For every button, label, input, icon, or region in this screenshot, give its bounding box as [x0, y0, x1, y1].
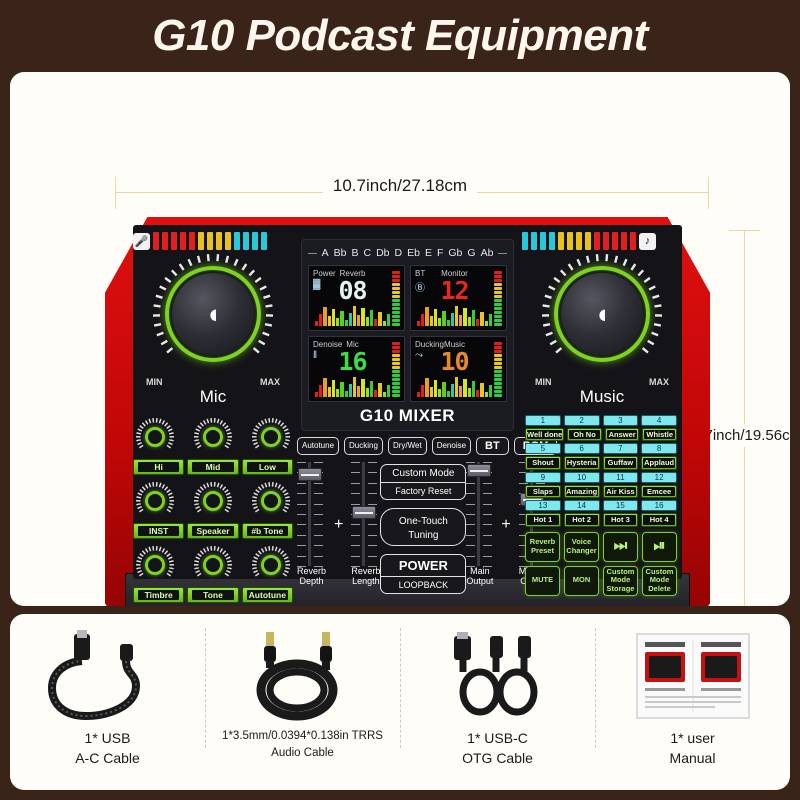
knob-mid[interactable] — [193, 417, 233, 457]
accessory-item: 1* userManual — [595, 614, 790, 790]
note-label: Ab — [481, 247, 494, 259]
power-loopback-button[interactable]: POWERLOOPBACK — [380, 554, 466, 594]
eq-bar — [349, 313, 352, 326]
knob-timbre[interactable] — [135, 545, 175, 585]
vu-segment — [392, 378, 400, 381]
eq-bar — [463, 308, 466, 326]
vu-segment — [494, 382, 502, 385]
pad-number: 2 — [564, 415, 600, 426]
usb-a-to-c-cable-icon — [48, 628, 168, 724]
vu-segment — [392, 303, 400, 306]
led-segment — [594, 232, 600, 250]
fader-notch — [314, 535, 323, 536]
fader-notch — [314, 514, 323, 515]
vu-segment — [392, 374, 400, 377]
led-segment — [558, 232, 564, 250]
fader-notch — [351, 504, 360, 505]
eq-bar — [323, 378, 326, 397]
mic-led-meter: 🎤 — [133, 225, 293, 247]
vu-segment — [392, 390, 400, 393]
lcd-equalizer — [315, 304, 390, 326]
accessory-caption: 1* userManual — [670, 728, 716, 769]
brand-logo-icon: ◖ — [205, 301, 221, 328]
eq-bar — [332, 309, 335, 326]
knob-tone[interactable] — [193, 545, 233, 585]
knob-speaker[interactable] — [193, 481, 233, 521]
led-segment — [585, 232, 591, 250]
note-rule-left — [308, 253, 317, 254]
eq-bar — [455, 377, 458, 397]
fader-notch — [351, 566, 360, 567]
right-control-column: ♪ ◖ MIN MAX Music 1234Well doneOh NoAnsw… — [522, 225, 682, 579]
fader-label: MainOutput — [466, 566, 493, 587]
note-rule-right — [498, 253, 507, 254]
lcd-vu-meter — [494, 269, 502, 327]
lcd-equalizer — [315, 375, 390, 397]
eq-bar — [378, 383, 381, 397]
eq-bar — [417, 392, 420, 397]
led-segment — [162, 232, 168, 250]
knob--b-tone[interactable] — [251, 481, 291, 521]
pad-shout[interactable]: Shout — [525, 456, 561, 469]
pad-whistle[interactable]: Whistle — [642, 428, 677, 441]
eq-bar — [332, 380, 335, 397]
pad-slaps[interactable]: Slaps — [525, 485, 561, 498]
pad-label-text: Hysteria — [566, 458, 598, 467]
mic-icon: 🎤 — [133, 233, 150, 250]
led-segment — [531, 232, 537, 250]
center-control-section: AutotuneDuckingDry/WetDenoiseBTBGMReverb… — [297, 437, 518, 577]
fader-notch — [351, 535, 360, 536]
led-segment — [603, 232, 609, 250]
eq-bar — [421, 385, 424, 397]
eq-bar — [459, 386, 462, 397]
product-panel: 10.7inch/27.18cm 7.7inch/19.56cm 🎤 ◖ — [10, 72, 790, 606]
lcd-value: 16 — [338, 349, 366, 374]
led-segment — [261, 232, 267, 250]
accessory-caption: 1* USBA-C Cable — [75, 728, 140, 769]
mini-knob-ring — [203, 491, 223, 511]
pad-amazing[interactable]: Amazing — [564, 485, 600, 498]
mini-knob-row — [133, 545, 293, 585]
music-knob-face: ◖ — [561, 273, 643, 355]
brand-logo-icon: ◖ — [594, 301, 610, 328]
pad-number: 12 — [641, 472, 677, 483]
eq-bar — [468, 388, 471, 397]
eq-knob-matrix: HiMidLowINSTSpeaker#b ToneTimbreToneAuto… — [133, 417, 293, 603]
split-button-line1: Custom Mode — [381, 465, 465, 482]
lcd-panel: BTⒷMonitor12 — [410, 265, 507, 331]
pad-number: 6 — [564, 443, 600, 454]
vu-segment — [392, 291, 400, 294]
knob-label-text: Autotune — [247, 590, 288, 600]
lcd-vu-meter — [392, 269, 400, 327]
eq-bar — [340, 311, 343, 326]
fader-unit: ReverbLength — [351, 462, 380, 587]
fader-notch — [314, 556, 323, 557]
left-control-column: 🎤 ◖ MIN MAX Mic HiMidLowINSTSpeak — [133, 225, 293, 579]
music-volume-knob[interactable]: ◖ — [541, 253, 663, 375]
fader-notch — [466, 462, 475, 463]
vu-segment — [392, 362, 400, 365]
fader-notch — [466, 566, 475, 567]
eq-bar — [336, 389, 339, 397]
fader-notch — [351, 524, 360, 525]
eq-bar — [485, 392, 488, 397]
usb-c-otg-cable-icon — [438, 628, 558, 724]
vu-segment — [494, 323, 502, 326]
button-ducking[interactable]: Ducking — [344, 437, 383, 455]
knob-label: #b Tone — [242, 523, 293, 539]
led-segment — [198, 232, 204, 250]
eq-bar — [383, 392, 386, 397]
vu-segment — [392, 307, 400, 310]
led-segment — [171, 232, 177, 250]
mic-knob-face: ◖ — [172, 273, 254, 355]
knob-label: INST — [133, 523, 184, 539]
pad-air-kiss[interactable]: Air Kiss — [603, 485, 639, 498]
width-dimension-label: 10.7inch/27.18cm — [10, 176, 790, 196]
eq-bar — [421, 314, 424, 326]
eq-bar — [353, 306, 356, 326]
note-label: A — [322, 247, 329, 259]
music-knob-min-label: MIN — [535, 377, 552, 387]
music-knob-max-label: MAX — [649, 377, 669, 387]
fn-button-custom-mode-delete[interactable]: CustomModeDelete — [642, 566, 677, 596]
fader-notch — [466, 545, 475, 546]
fader-notch — [368, 566, 377, 567]
vu-segment — [392, 386, 400, 389]
lcd-display: ABbBCDbDEbEFGbGAb Power▓Reverb08BTⒷMonit… — [301, 239, 514, 431]
eq-bar — [378, 312, 381, 326]
lcd-panel: Ducking⤳Music10 — [410, 336, 507, 402]
lcd-title: G10 MIXER — [308, 406, 507, 426]
pad-number-row: 13141516 — [525, 500, 677, 511]
eq-bar — [387, 385, 390, 397]
lcd-value: 08 — [338, 278, 366, 303]
fader-label: ReverbDepth — [297, 566, 326, 587]
fader-notch — [368, 535, 377, 536]
fader-notch — [368, 504, 377, 505]
led-segment — [522, 232, 528, 250]
fader-plus-sign: + — [334, 516, 343, 534]
pad-label-row: Well doneOh NoAnswerWhistle — [525, 428, 677, 441]
pad-label-row: Hot 1Hot 2Hot 3Hot 4 — [525, 513, 677, 526]
knob-label: Hi — [133, 459, 184, 475]
pad-label-text: Amazing — [566, 487, 598, 496]
fader-slider[interactable] — [297, 462, 323, 566]
eq-bar — [374, 319, 377, 326]
fader-notch — [351, 493, 360, 494]
fader-notch — [483, 504, 492, 505]
knob-label-text: Speaker — [192, 526, 233, 536]
eq-bar — [370, 310, 373, 326]
accessory-line2: Manual — [670, 750, 716, 766]
eq-bar — [455, 306, 458, 326]
fader-notch — [297, 504, 306, 505]
eq-bar — [434, 380, 437, 397]
fader-notch — [466, 514, 475, 515]
eq-bar — [447, 320, 450, 326]
vu-segment — [494, 346, 502, 349]
eq-bar — [366, 388, 369, 397]
center-column: ABbBCDbDEbEFGbGAb Power▓Reverb08BTⒷMonit… — [293, 225, 522, 579]
pad-label-text: Hot 2 — [566, 515, 598, 524]
vu-segment — [494, 374, 502, 377]
vu-segment — [494, 319, 502, 322]
music-note-icon: ♪ — [639, 233, 656, 250]
knob-label-row: TimbreToneAutotune — [133, 587, 293, 603]
pad-hot-3[interactable]: Hot 3 — [603, 513, 639, 526]
vu-segment — [494, 370, 502, 373]
vu-segment — [494, 311, 502, 314]
eq-bar — [315, 321, 318, 326]
pad-label-text: Whistle — [644, 430, 675, 439]
fn-button-reverb-preset[interactable]: ReverbPreset — [525, 532, 560, 562]
eq-bar — [361, 308, 364, 326]
accessories-panel: 1* USBA-C Cable 1*3.5mm/0.0394*0.138in T… — [10, 614, 790, 790]
vu-segment — [392, 323, 400, 326]
fader-handle[interactable] — [352, 506, 376, 519]
fader-notch — [483, 535, 492, 536]
fader-plus-sign: + — [501, 516, 510, 534]
pad-hysteria[interactable]: Hysteria — [564, 456, 600, 469]
fader-notch — [297, 535, 306, 536]
mini-knob-ring — [203, 555, 223, 575]
lcd-vu-meter — [494, 340, 502, 398]
pad-label-row: SlapsAmazingAir KissEmcee — [525, 485, 677, 498]
pad-number: 13 — [525, 500, 561, 511]
fn-button-custom-mode-storage[interactable]: CustomModeStorage — [603, 566, 638, 596]
lcd-value: 12 — [440, 278, 468, 303]
pad-number: 1 — [525, 415, 561, 426]
mic-volume-knob[interactable]: ◖ — [152, 253, 274, 375]
fader-notch — [368, 524, 377, 525]
vu-segment — [494, 287, 502, 290]
lcd-panel-body: Power▓Reverb08 — [313, 269, 392, 327]
pad-number: 16 — [641, 500, 677, 511]
eq-bar — [417, 321, 420, 326]
fader-notch — [351, 545, 360, 546]
eq-bar — [345, 320, 348, 326]
button-denoise[interactable]: Denoise — [432, 437, 471, 455]
vu-segment — [392, 358, 400, 361]
led-segment — [621, 232, 627, 250]
fader-notch — [466, 556, 475, 557]
vu-segment — [494, 358, 502, 361]
pad-number: 9 — [525, 472, 561, 483]
knob-label-text: #b Tone — [247, 526, 288, 536]
function-button-row: MUTEMONCustomModeStorageCustomModeDelete — [525, 566, 677, 596]
fader-notch — [297, 545, 306, 546]
sound-pad-section: 1234Well doneOh NoAnswerWhistle5678Shout… — [522, 415, 682, 596]
fader-notch — [483, 524, 492, 525]
vu-segment — [494, 362, 502, 365]
pad-applaud[interactable]: Applaud — [641, 456, 677, 469]
fader-notch — [483, 493, 492, 494]
control-button-row: AutotuneDuckingDry/WetDenoiseBTBGM — [297, 437, 518, 455]
led-segment — [216, 232, 222, 250]
pad-answer[interactable]: Answer — [605, 428, 640, 441]
led-segment — [180, 232, 186, 250]
pad-number: 3 — [603, 415, 639, 426]
pad-well-done[interactable]: Well done — [525, 428, 564, 441]
vu-segment — [494, 283, 502, 286]
pad-number-row: 1234 — [525, 415, 677, 426]
vu-segment — [494, 299, 502, 302]
fn-button-mon[interactable]: MON — [564, 566, 599, 596]
mixer-device: 🎤 ◖ MIN MAX Mic HiMidLowINSTSpeak — [105, 217, 710, 606]
eq-bar — [328, 387, 331, 397]
eq-bar — [387, 314, 390, 326]
vu-segment — [494, 350, 502, 353]
knob-label-text: Timbre — [138, 590, 179, 600]
knob-hi[interactable] — [135, 417, 175, 457]
height-dimension-cap-top — [729, 230, 760, 231]
trrs-audio-cable-icon — [238, 628, 368, 724]
one-touch-tuning-button[interactable]: One-TouchTuning — [380, 508, 466, 546]
pad-label-text: Slaps — [527, 487, 559, 496]
pad-hot-1[interactable]: Hot 1 — [525, 513, 561, 526]
fn-button--[interactable]: ⏭ — [603, 532, 638, 562]
mini-knob-ring — [203, 427, 223, 447]
knob-low[interactable] — [251, 417, 291, 457]
lcd-equalizer — [417, 375, 492, 397]
fn-button-voice-changer[interactable]: VoiceChanger — [564, 532, 599, 562]
fader-notch — [314, 524, 323, 525]
note-label: Eb — [407, 247, 420, 259]
function-button-grid: ReverbPresetVoiceChanger⏭⏯MUTEMONCustomM… — [525, 532, 677, 596]
vu-segment — [494, 295, 502, 298]
fader-notch — [297, 556, 306, 557]
fader-slider[interactable] — [351, 462, 377, 566]
led-segment — [549, 232, 555, 250]
knob-label: Timbre — [133, 587, 184, 603]
eq-bar — [447, 391, 450, 397]
accessory-item: 1*3.5mm/0.0394*0.138in TRRSAudio Cable — [205, 614, 400, 790]
split-button-line2: Factory Reset — [381, 482, 465, 499]
knob-autotune[interactable] — [251, 545, 291, 585]
eq-bar — [451, 384, 454, 397]
lcd-panel: Power▓Reverb08 — [308, 265, 405, 331]
eq-bar — [361, 379, 364, 397]
lcd-panel-grid: Power▓Reverb08BTⒷMonitor12Denoise‖Mic16D… — [308, 265, 507, 402]
knob-label: Speaker — [187, 523, 238, 539]
vu-segment — [392, 354, 400, 357]
fader-notch — [314, 462, 323, 463]
vu-segment — [494, 303, 502, 306]
tuning-line2: Tuning — [381, 530, 465, 541]
button-bt[interactable]: BT — [476, 437, 509, 455]
knob-row-group: INSTSpeaker#b Tone — [133, 481, 293, 539]
vu-segment — [392, 271, 400, 274]
vu-segment — [494, 390, 502, 393]
button-autotune[interactable]: Autotune — [297, 437, 339, 455]
pad-label-text: Shout — [527, 458, 559, 467]
eq-bar — [480, 312, 483, 326]
eq-bar — [442, 311, 445, 326]
eq-bar — [323, 307, 326, 326]
eq-bar — [442, 382, 445, 397]
pad-oh-no[interactable]: Oh No — [567, 428, 602, 441]
lcd-panel-body: Denoise‖Mic16 — [313, 340, 392, 398]
custom-mode-factory-reset-button[interactable]: Custom ModeFactory Reset — [380, 464, 466, 500]
knob-label-row: INSTSpeaker#b Tone — [133, 523, 293, 539]
led-segment — [234, 232, 240, 250]
knob-inst[interactable] — [135, 481, 175, 521]
pad-label-text: Air Kiss — [605, 487, 637, 496]
fader-handle[interactable] — [467, 464, 491, 477]
eq-bar — [340, 382, 343, 397]
fader-unit: MainOutput — [466, 462, 493, 587]
vu-segment — [392, 346, 400, 349]
pad-emcee[interactable]: Emcee — [641, 485, 677, 498]
fader-notch — [314, 493, 323, 494]
function-button-row: ReverbPresetVoiceChanger⏭⏯ — [525, 532, 677, 562]
eq-bar — [425, 378, 428, 397]
eq-bar — [319, 314, 322, 326]
eq-bar — [472, 310, 475, 326]
button-dry-wet[interactable]: Dry/Wet — [388, 437, 427, 455]
accessory-line1: 1* USB — [85, 730, 131, 746]
fader-notch — [483, 514, 492, 515]
led-segment — [252, 232, 258, 250]
eq-bar — [459, 315, 462, 326]
center-mid-buttons: Custom ModeFactory ResetOne-TouchTuningP… — [380, 462, 466, 587]
vu-segment — [392, 370, 400, 373]
eq-bar — [476, 390, 479, 397]
vu-segment — [392, 382, 400, 385]
pad-guffaw[interactable]: Guffaw — [603, 456, 639, 469]
vu-segment — [494, 275, 502, 278]
eq-bar — [472, 381, 475, 397]
knob-label-text: Hi — [138, 462, 179, 472]
fader-notch — [483, 545, 492, 546]
fader-notch — [297, 514, 306, 515]
note-label: C — [363, 247, 371, 259]
accessory-item: 1* USB-COTG Cable — [400, 614, 595, 790]
pad-label-text: Emcee — [643, 487, 675, 496]
eq-bar — [476, 319, 479, 326]
note-label: F — [437, 247, 443, 259]
music-knob-range: MIN MAX — [522, 377, 682, 387]
fader-notch — [466, 535, 475, 536]
vu-segment — [392, 275, 400, 278]
vu-segment — [392, 283, 400, 286]
fader-handle[interactable] — [298, 468, 322, 481]
mini-knob-ring — [261, 427, 281, 447]
vu-segment — [392, 311, 400, 314]
fader-notch — [368, 493, 377, 494]
fader-notch — [314, 566, 323, 567]
eq-bar — [357, 315, 360, 326]
fader-notch — [297, 566, 306, 567]
pad-hot-4[interactable]: Hot 4 — [641, 513, 677, 526]
knob-label-text: Mid — [192, 462, 233, 472]
fader-notch — [483, 556, 492, 557]
eq-bar — [328, 316, 331, 326]
pad-hot-2[interactable]: Hot 2 — [564, 513, 600, 526]
accessory-item: 1* USBA-C Cable — [10, 614, 205, 790]
fn-button-mute[interactable]: MUTE — [525, 566, 560, 596]
eq-bar — [489, 314, 492, 326]
lcd-panel: Denoise‖Mic16 — [308, 336, 405, 402]
fn-button--[interactable]: ⏯ — [642, 532, 677, 562]
pad-number: 7 — [603, 443, 639, 454]
note-label: E — [425, 247, 432, 259]
fader-slider[interactable] — [466, 462, 492, 566]
vu-segment — [494, 307, 502, 310]
